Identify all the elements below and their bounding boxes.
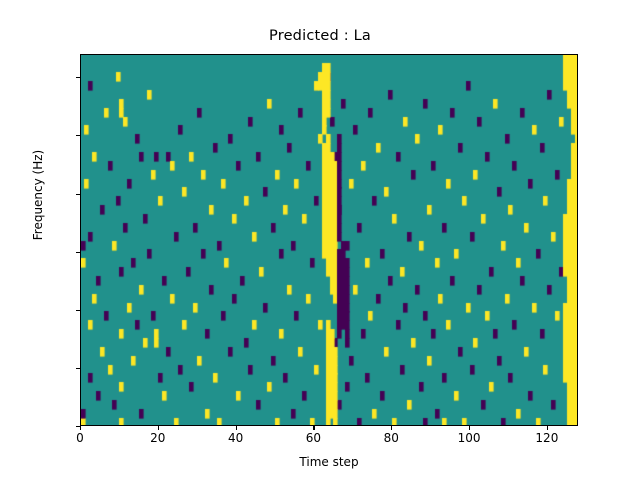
x-axis-label: Time step xyxy=(80,455,578,469)
x-tick-label: 120 xyxy=(517,431,577,445)
x-tick-mark xyxy=(469,426,470,430)
x-tick-mark xyxy=(236,426,237,430)
x-tick-mark xyxy=(547,426,548,430)
x-tick-label: 20 xyxy=(128,431,188,445)
x-tick-mark xyxy=(391,426,392,430)
matplotlib-figure: Predicted : La 0200004000060000800001000… xyxy=(0,0,640,480)
x-axis-ticks: 020406080100120 xyxy=(0,0,640,480)
x-tick-label: 40 xyxy=(206,431,266,445)
x-tick-label: 100 xyxy=(439,431,499,445)
x-tick-label: 60 xyxy=(283,431,343,445)
x-tick-mark xyxy=(313,426,314,430)
x-tick-label: 80 xyxy=(361,431,421,445)
x-tick-mark xyxy=(80,426,81,430)
x-tick-mark xyxy=(158,426,159,430)
x-tick-label: 0 xyxy=(50,431,110,445)
